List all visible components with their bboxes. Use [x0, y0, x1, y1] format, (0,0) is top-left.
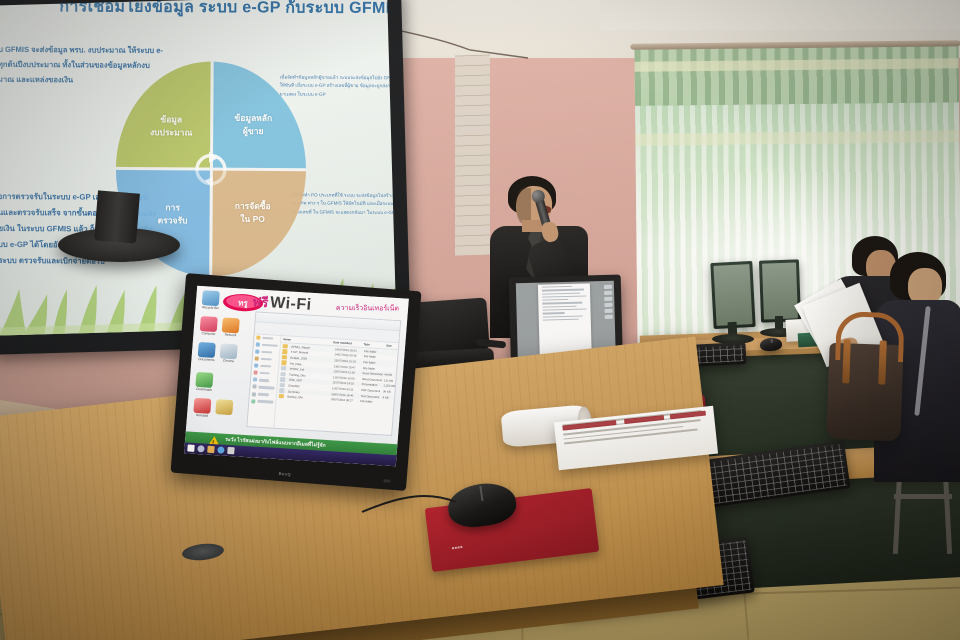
explorer-nav-label: [261, 343, 278, 346]
main-monitor-brand: BenQ: [279, 471, 292, 477]
desktop-icon[interactable]: Notepad: [193, 398, 213, 419]
file-icon: [280, 372, 285, 377]
metal-chair-crossbar: [894, 494, 952, 499]
explorer-cell-size: 48 KB: [382, 372, 396, 377]
mouse-cable-icon: [360, 486, 460, 526]
file-icon: [279, 394, 284, 399]
explorer-column-header[interactable]: Date modified: [331, 340, 362, 346]
handbag-strap-left: [842, 339, 851, 383]
explorer-icon[interactable]: [207, 446, 215, 453]
explorer-cell-name: Backup_Old: [285, 395, 329, 402]
explorer-cell-date: 05/07/2016 08:27: [329, 397, 358, 403]
explorer-nav-icon: [255, 356, 259, 360]
main-monitor-stand: [94, 190, 140, 243]
quadrant-label-po: การจัดซื้อใน PO: [216, 200, 290, 227]
folder-icon[interactable]: [227, 447, 235, 454]
explorer-cell-size: [383, 369, 396, 370]
explorer-nav-icon: [252, 385, 256, 389]
presenter-neck: [522, 220, 542, 232]
browser-icon[interactable]: [217, 446, 225, 453]
search-icon[interactable]: [197, 445, 205, 452]
desktop-icon[interactable]: Computer: [199, 316, 219, 337]
explorer-nav-item[interactable]: [252, 391, 274, 398]
explorer-nav-label: [260, 365, 272, 368]
file-icon: [280, 383, 285, 388]
back-mouse-split: [771, 338, 773, 343]
file-icon: [283, 344, 288, 349]
back-monitor-2-panel: [762, 262, 798, 319]
explorer-file-list[interactable]: NameDate modifiedTypeSize GFMIS_Report14…: [274, 334, 398, 435]
main-monitor-screen[interactable]: ทรู ฟรี Wi-Fi ความเร็วอินเทอร์เน็ต Recyc…: [184, 286, 409, 466]
desktop-icon[interactable]: Documents: [197, 342, 217, 363]
explorer-nav-label: [262, 336, 274, 339]
file-explorer-window[interactable]: NameDate modifiedTypeSize GFMIS_Report14…: [246, 311, 401, 436]
explorer-nav-item[interactable]: [255, 349, 277, 356]
explorer-nav-icon: [253, 378, 257, 382]
valance-band: [635, 58, 959, 71]
brick-column: [455, 55, 490, 256]
explorer-cell-size: 132 KB: [382, 378, 396, 383]
desktop-icon[interactable]: Recycle Bin: [201, 290, 221, 311]
explorer-nav-label: [257, 400, 274, 403]
desktop-icon-label: Recycle Bin: [201, 306, 219, 311]
second-monitor-toolbar[interactable]: [604, 285, 613, 321]
circular-arrows-icon: [189, 147, 233, 191]
explorer-nav-icon: [254, 364, 258, 368]
presenter-face-shadow: [516, 188, 531, 224]
main-monitor[interactable]: ทรู ฟรี Wi-Fi ความเร็วอินเทอร์เน็ต Recyc…: [171, 273, 422, 491]
start-icon[interactable]: [187, 444, 195, 451]
photo-scene: การเชื่อมโยงข้อมูล ระบบ e-GP กับระบบ GFM…: [0, 0, 960, 640]
explorer-nav-label: [259, 372, 269, 375]
explorer-nav-icon: [256, 342, 260, 346]
leather-handbag: [826, 343, 903, 442]
mouse-front-split: [479, 486, 483, 501]
desktop-icon-label: Documents: [197, 358, 215, 363]
file-icon: [279, 388, 284, 393]
explorer-nav-item[interactable]: [254, 363, 276, 370]
explorer-cell-size: [383, 363, 396, 364]
back-monitor-1: [710, 261, 755, 329]
desktop-icon-label: Computer: [199, 332, 217, 337]
explorer-cell-size: 4 KB: [380, 395, 394, 400]
file-icon: [282, 349, 287, 354]
curtain-valance: [634, 44, 959, 105]
explorer-nav-item[interactable]: [251, 398, 273, 405]
desktop-icon-column: Recycle Bin Computer Network Documents C…: [188, 290, 257, 429]
ceiling-second-plane: [600, 0, 960, 30]
quadrant-label-budget: ข้อมูลงบประมาณ: [134, 113, 208, 140]
second-monitor-document: [538, 283, 592, 356]
explorer-cell-size: [384, 358, 397, 359]
explorer-cell-size: 96 KB: [381, 389, 395, 394]
desktop-icon[interactable]: Network: [221, 317, 241, 338]
wallpaper-thai-subtext: ความเร็วอินเทอร์เน็ต: [336, 303, 399, 315]
explorer-nav-label: [258, 379, 268, 382]
explorer-nav-item[interactable]: [256, 335, 278, 342]
explorer-column-header[interactable]: Size: [384, 343, 398, 348]
explorer-column-header[interactable]: Type: [361, 342, 384, 347]
explorer-cell-size: 1,254 KB: [381, 384, 395, 389]
explorer-nav-label: [261, 351, 273, 354]
file-icon: [281, 366, 286, 371]
power-led-icon[interactable]: [383, 479, 390, 483]
explorer-nav-icon: [255, 349, 259, 353]
explorer-nav-item[interactable]: [256, 342, 278, 349]
explorer-cell-size: [380, 402, 393, 403]
desktop-icon[interactable]: Chrome: [219, 343, 239, 364]
desktop-icon-label: Network: [221, 333, 239, 338]
file-icon: [282, 355, 287, 360]
explorer-nav-item[interactable]: [255, 356, 277, 363]
slide-title: การเชื่อมโยงข้อมูล ระบบ e-GP กับระบบ GFM…: [59, 0, 389, 21]
explorer-cell-type: File folder: [358, 399, 380, 404]
explorer-nav-icon: [253, 371, 257, 375]
desktop-icon-label: Chrome: [219, 359, 237, 364]
quadrant-label-inspect: การตรวจรับ: [136, 201, 210, 228]
explorer-cell-size: [384, 352, 397, 353]
explorer-nav-item[interactable]: [253, 377, 275, 384]
explorer-nav-label: [260, 358, 272, 361]
explorer-nav-icon: [256, 335, 260, 339]
quadrant-label-vendor: ข้อมูลหลักผู้ขาย: [216, 112, 290, 139]
file-icon: [280, 377, 285, 382]
mouse-pad-logo-front: ■■■■: [451, 544, 463, 550]
desktop-icon-label: Downloads: [195, 388, 213, 393]
explorer-nav-icon: [251, 399, 255, 403]
slide-text-right-lower: เมื่อจัดทำ PO ประเภทที่ใช้ ระบบ จะส่งข้อ…: [291, 191, 396, 217]
back-monitor-1-panel: [713, 264, 752, 326]
explorer-nav-label: [257, 393, 269, 396]
file-icon: [281, 360, 286, 365]
desktop-icon[interactable]: Downloads: [195, 372, 215, 393]
handbag-strap-right: [878, 340, 887, 384]
back-monitor-2: [759, 259, 801, 322]
desktop-icon-label: Notepad: [193, 414, 211, 419]
explorer-nav-icon: [252, 392, 256, 396]
explorer-nav-item[interactable]: [252, 384, 274, 391]
explorer-nav-label: [258, 386, 275, 389]
explorer-nav-item[interactable]: [253, 370, 275, 377]
desktop-icon[interactable]: [215, 399, 234, 415]
